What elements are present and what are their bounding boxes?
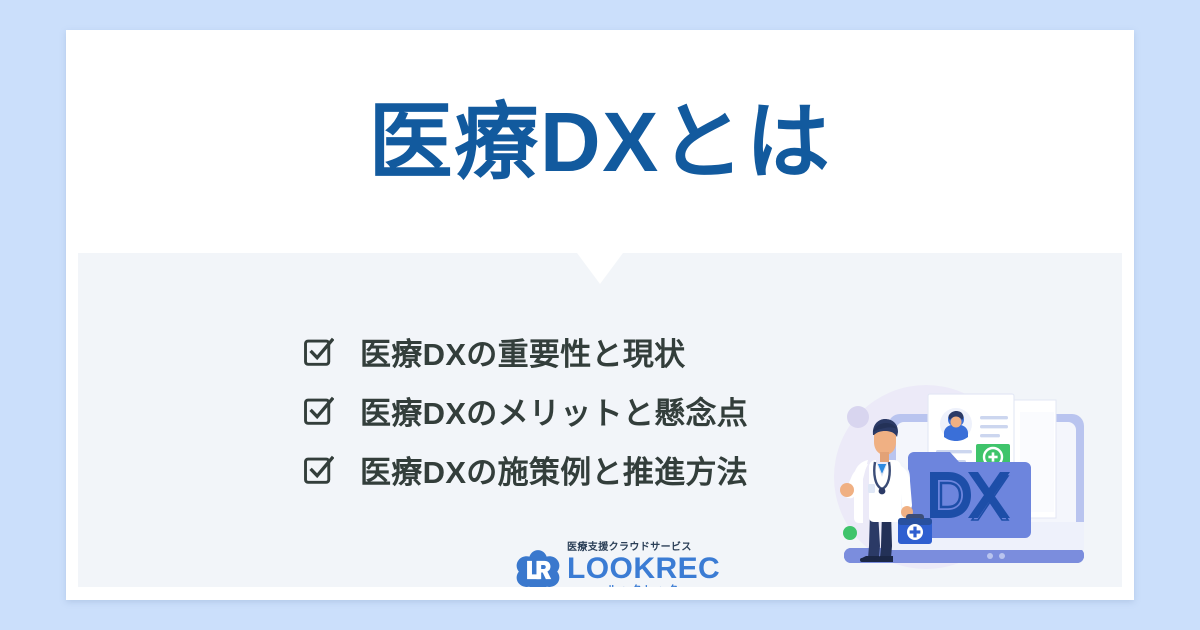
doctor-laptop-dx-folder-illustration xyxy=(816,372,1116,587)
logo-wordmark: LOOKREC xyxy=(567,554,720,584)
content-panel: 医療DXの重要性と現状 医療DXのメリットと懸念点 xyxy=(78,253,1122,587)
content-card: 医療DXとは 医療DXの重要性と現状 xyxy=(66,30,1134,600)
logo-kana: ルックレック xyxy=(567,586,720,587)
list-item[interactable]: 医療DXの施策例と推進方法 xyxy=(303,443,748,496)
lookrec-logo[interactable]: 医療支援クラウドサービス LOOKREC ルックレック xyxy=(515,543,720,587)
lookrec-lr-clover-icon xyxy=(515,547,561,588)
triangle-down-notch-icon xyxy=(577,253,623,284)
list-item-label: 医療DXのメリットと懸念点 xyxy=(360,388,748,433)
lookrec-logo-text: 医療支援クラウドサービス LOOKREC ルックレック xyxy=(567,543,720,587)
page-title: 医療DXとは xyxy=(369,100,832,184)
slide-canvas: 医療DXとは 医療DXの重要性と現状 xyxy=(0,0,1200,630)
topic-list: 医療DXの重要性と現状 医療DXのメリットと懸念点 xyxy=(303,325,748,502)
list-item-label: 医療DXの重要性と現状 xyxy=(360,329,685,374)
list-item[interactable]: 医療DXのメリットと懸念点 xyxy=(303,384,748,437)
list-item-label: 医療DXの施策例と推進方法 xyxy=(360,447,748,492)
list-item[interactable]: 医療DXの重要性と現状 xyxy=(303,325,748,378)
checkbox-checked-icon xyxy=(303,454,334,485)
title-section: 医療DXとは xyxy=(66,30,1134,253)
checkbox-checked-icon xyxy=(303,395,334,426)
checkbox-checked-icon xyxy=(303,336,334,367)
